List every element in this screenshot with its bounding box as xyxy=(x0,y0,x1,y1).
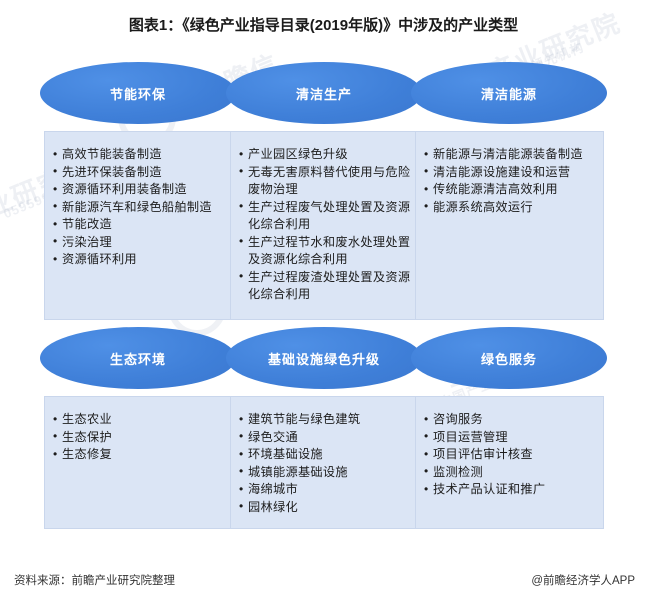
list-item: 生态保护 xyxy=(53,429,226,447)
category-header-ellipse: 基础设施绿色升级 xyxy=(226,327,422,389)
category-items-panel: 新能源与清洁能源装备制造 清洁能源设施建设和运营 传统能源清洁高效利用 能源系统… xyxy=(415,131,604,320)
category-header-ellipse: 生态环境 xyxy=(40,327,236,389)
category-items-panel: 高效节能装备制造 先进环保装备制造 资源循环利用装备制造 新能源汽车和绿色船舶制… xyxy=(44,131,233,320)
list-item: 监测检测 xyxy=(424,464,597,482)
list-item: 传统能源清洁高效利用 xyxy=(424,181,597,199)
list-item: 园林绿化 xyxy=(239,499,412,517)
category-items-panel: 产业园区绿色升级 无毒无害原料替代使用与危险废物治理 生产过程废气处理处置及资源… xyxy=(230,131,419,320)
list-item: 新能源与清洁能源装备制造 xyxy=(424,146,597,164)
list-item: 资源循环利用装备制造 xyxy=(53,181,226,199)
list-item: 生产过程废渣处理处置及资源化综合利用 xyxy=(239,269,412,304)
list-item: 生产过程节水和废水处理处置及资源化综合利用 xyxy=(239,234,412,269)
category-item-list: 高效节能装备制造 先进环保装备制造 资源循环利用装备制造 新能源汽车和绿色船舶制… xyxy=(53,146,226,269)
list-item: 高效节能装备制造 xyxy=(53,146,226,164)
category-card-green-services[interactable]: 绿色服务 咨询服务 项目运营管理 项目评估审计核查 监测检测 技术产品认证和推广 xyxy=(411,327,607,529)
category-item-list: 生态农业 生态保护 生态修复 xyxy=(53,411,226,464)
category-item-list: 咨询服务 项目运营管理 项目评估审计核查 监测检测 技术产品认证和推广 xyxy=(424,411,597,499)
grid-row-bottom: 生态环境 生态农业 生态保护 生态修复 基础设施绿色升级 建筑节能与绿色建筑 绿… xyxy=(0,327,647,585)
list-item: 绿色交通 xyxy=(239,429,412,447)
list-item: 环境基础设施 xyxy=(239,446,412,464)
brand-credit: @前瞻经济学人APP xyxy=(531,572,635,588)
category-card-clean-production[interactable]: 清洁生产 产业园区绿色升级 无毒无害原料替代使用与危险废物治理 生产过程废气处理… xyxy=(226,62,422,320)
category-header-label: 绿色服务 xyxy=(481,349,537,368)
list-item: 项目评估审计核查 xyxy=(424,446,597,464)
list-item: 先进环保装备制造 xyxy=(53,164,226,182)
list-item: 新能源汽车和绿色船舶制造 xyxy=(53,199,226,217)
category-item-list: 新能源与清洁能源装备制造 清洁能源设施建设和运营 传统能源清洁高效利用 能源系统… xyxy=(424,146,597,216)
list-item: 产业园区绿色升级 xyxy=(239,146,412,164)
category-header-label: 节能环保 xyxy=(110,84,166,103)
list-item: 节能改造 xyxy=(53,216,226,234)
category-item-list: 产业园区绿色升级 无毒无害原料替代使用与危险废物治理 生产过程废气处理处置及资源… xyxy=(239,146,412,304)
list-item: 项目运营管理 xyxy=(424,429,597,447)
category-items-panel: 生态农业 生态保护 生态修复 xyxy=(44,396,233,529)
category-header-ellipse: 清洁能源 xyxy=(411,62,607,124)
category-header-label: 基础设施绿色升级 xyxy=(268,349,380,368)
list-item: 污染治理 xyxy=(53,234,226,252)
grid-row-top: 节能环保 高效节能装备制造 先进环保装备制造 资源循环利用装备制造 新能源汽车和… xyxy=(0,62,647,320)
category-card-ecology[interactable]: 生态环境 生态农业 生态保护 生态修复 xyxy=(40,327,236,529)
list-item: 海绵城市 xyxy=(239,481,412,499)
list-item: 咨询服务 xyxy=(424,411,597,429)
list-item: 城镇能源基础设施 xyxy=(239,464,412,482)
list-item: 资源循环利用 xyxy=(53,251,226,269)
category-card-infrastructure[interactable]: 基础设施绿色升级 建筑节能与绿色建筑 绿色交通 环境基础设施 城镇能源基础设施 … xyxy=(226,327,422,529)
list-item: 能源系统高效运行 xyxy=(424,199,597,217)
category-header-label: 清洁能源 xyxy=(481,84,537,103)
list-item: 生态农业 xyxy=(53,411,226,429)
list-item: 清洁能源设施建设和运营 xyxy=(424,164,597,182)
category-header-ellipse: 绿色服务 xyxy=(411,327,607,389)
category-header-label: 生态环境 xyxy=(110,349,166,368)
category-header-ellipse: 节能环保 xyxy=(40,62,236,124)
page-title: 图表1：《绿色产业指导目录(2019年版)》中涉及的产业类型 xyxy=(0,14,647,35)
category-header-ellipse: 清洁生产 xyxy=(226,62,422,124)
list-item: 生产过程废气处理处置及资源化综合利用 xyxy=(239,199,412,234)
category-item-list: 建筑节能与绿色建筑 绿色交通 环境基础设施 城镇能源基础设施 海绵城市 园林绿化 xyxy=(239,411,412,516)
list-item: 建筑节能与绿色建筑 xyxy=(239,411,412,429)
list-item: 生态修复 xyxy=(53,446,226,464)
list-item: 技术产品认证和推广 xyxy=(424,481,597,499)
category-card-energy-saving[interactable]: 节能环保 高效节能装备制造 先进环保装备制造 资源循环利用装备制造 新能源汽车和… xyxy=(40,62,236,320)
source-note: 资料来源：前瞻产业研究院整理 xyxy=(14,572,175,588)
category-header-label: 清洁生产 xyxy=(296,84,352,103)
category-card-clean-energy[interactable]: 清洁能源 新能源与清洁能源装备制造 清洁能源设施建设和运营 传统能源清洁高效利用… xyxy=(411,62,607,320)
list-item: 无毒无害原料替代使用与危险废物治理 xyxy=(239,164,412,199)
category-items-panel: 建筑节能与绿色建筑 绿色交通 环境基础设施 城镇能源基础设施 海绵城市 园林绿化 xyxy=(230,396,419,529)
category-items-panel: 咨询服务 项目运营管理 项目评估审计核查 监测检测 技术产品认证和推广 xyxy=(415,396,604,529)
